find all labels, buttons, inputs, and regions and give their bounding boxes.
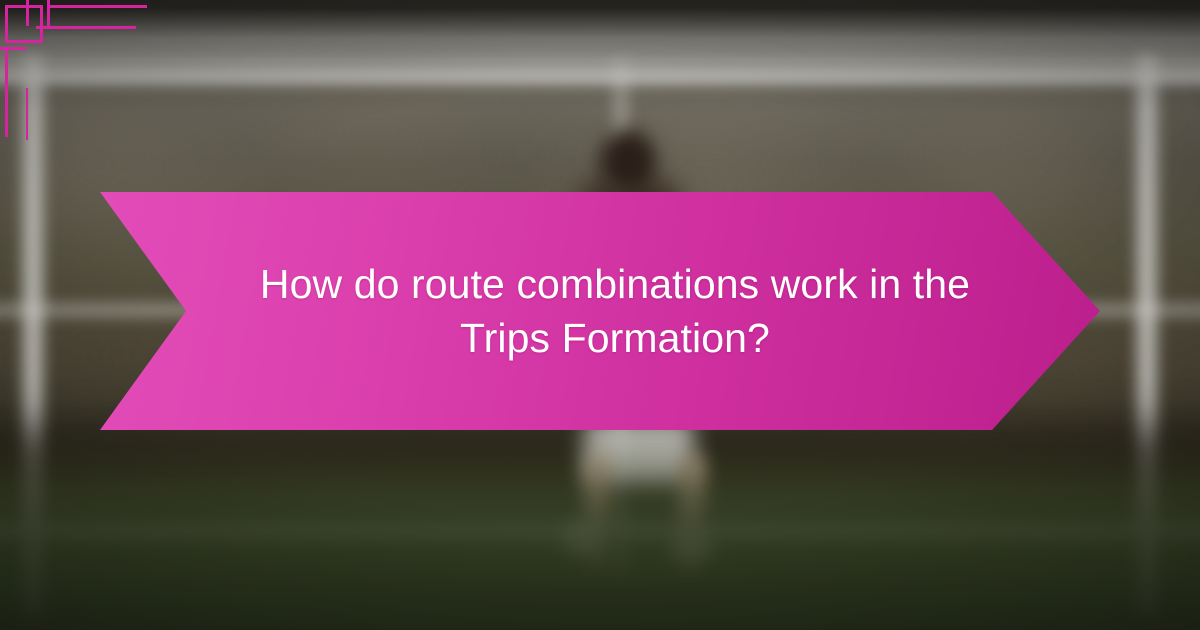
headline-banner: How do route combinations work in the Tr… [100, 192, 1100, 430]
share-card: How do route combinations work in the Tr… [0, 0, 1200, 630]
page-title: How do route combinations work in the Tr… [220, 257, 1010, 365]
